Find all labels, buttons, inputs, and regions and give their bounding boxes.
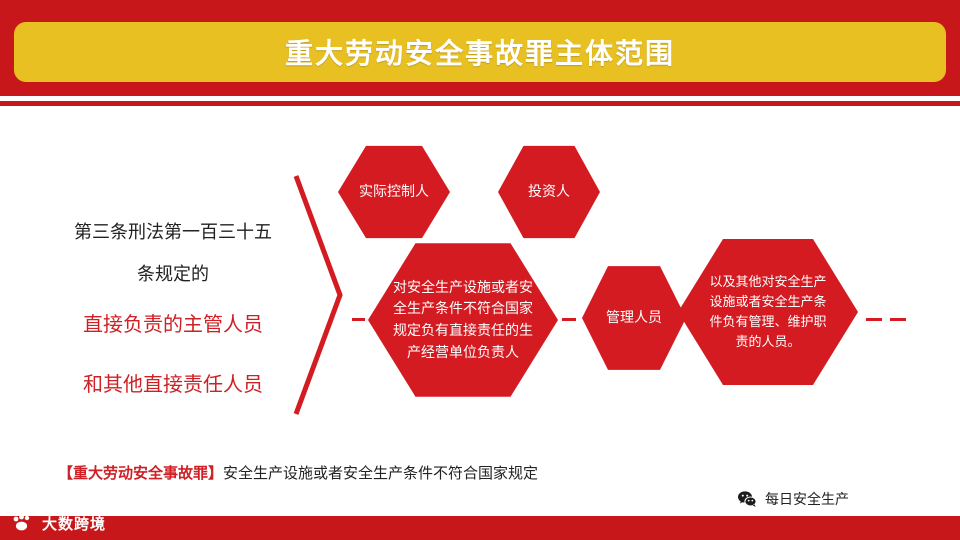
- wechat-account-name: 每日安全生产: [765, 489, 849, 509]
- bracket-shape: [288, 170, 348, 420]
- node-others-line-1: 以及其他对安全生产: [709, 272, 826, 292]
- paw-icon: [10, 512, 36, 534]
- node-responsible-person-line-3: 规定负有直接责任的生: [393, 320, 533, 342]
- header-plate: 重大劳动安全事故罪主体范围: [14, 22, 946, 82]
- footer-band: [0, 516, 960, 540]
- node-others[interactable]: 以及其他对安全生产 设施或者安全生产条 件负有管理、维护职 责的人员。: [678, 236, 858, 388]
- node-actual-controller-label: 实际控制人: [359, 181, 429, 203]
- node-responsible-person-line-1: 对安全生产设施或者安: [393, 277, 533, 299]
- definition-caption-term: 【重大劳动安全事故罪】: [58, 465, 223, 482]
- node-others-line-3: 件负有管理、维护职: [709, 312, 826, 332]
- node-responsible-person-line-4: 产经营单位负责人: [393, 342, 533, 364]
- left-text-highlight-1: 直接负责的主管人员: [48, 308, 298, 337]
- node-responsible-person[interactable]: 对安全生产设施或者安 全生产条件不符合国家 规定负有直接责任的生 产经营单位负责…: [368, 240, 558, 400]
- node-investor-label: 投资人: [528, 181, 570, 203]
- connector-dash-mid: [562, 318, 576, 321]
- wechat-badge[interactable]: 每日安全生产: [736, 488, 849, 510]
- connector-dash-right-2: [890, 318, 906, 321]
- node-actual-controller[interactable]: 实际控制人: [338, 144, 450, 240]
- node-others-line-2: 设施或者安全生产条: [709, 292, 826, 312]
- connector-dash-left: [352, 318, 365, 321]
- footer-logo-text: 大数跨境: [42, 513, 106, 534]
- left-text-highlight-2: 和其他直接责任人员: [48, 368, 298, 397]
- node-responsible-person-line-2: 全生产条件不符合国家: [393, 298, 533, 320]
- left-text-line-1: 第三条刑法第一百三十五: [58, 218, 288, 244]
- header-band: 重大劳动安全事故罪主体范围: [0, 0, 960, 96]
- definition-caption: 【重大劳动安全事故罪】安全生产设施或者安全生产条件不符合国家规定: [58, 462, 538, 483]
- definition-caption-text: 安全生产设施或者安全生产条件不符合国家规定: [223, 465, 538, 482]
- node-investor[interactable]: 投资人: [498, 144, 600, 240]
- header-red-rule: [0, 101, 960, 106]
- node-manager-label: 管理人员: [606, 307, 662, 329]
- connector-dash-right-1: [866, 318, 882, 321]
- node-manager[interactable]: 管理人员: [582, 264, 686, 372]
- page-title: 重大劳动安全事故罪主体范围: [14, 22, 946, 82]
- wechat-icon: [736, 488, 758, 510]
- footer-logo[interactable]: 大数跨境: [10, 512, 106, 534]
- node-others-line-4: 责的人员。: [709, 332, 826, 352]
- left-text-line-2: 条规定的: [58, 260, 288, 286]
